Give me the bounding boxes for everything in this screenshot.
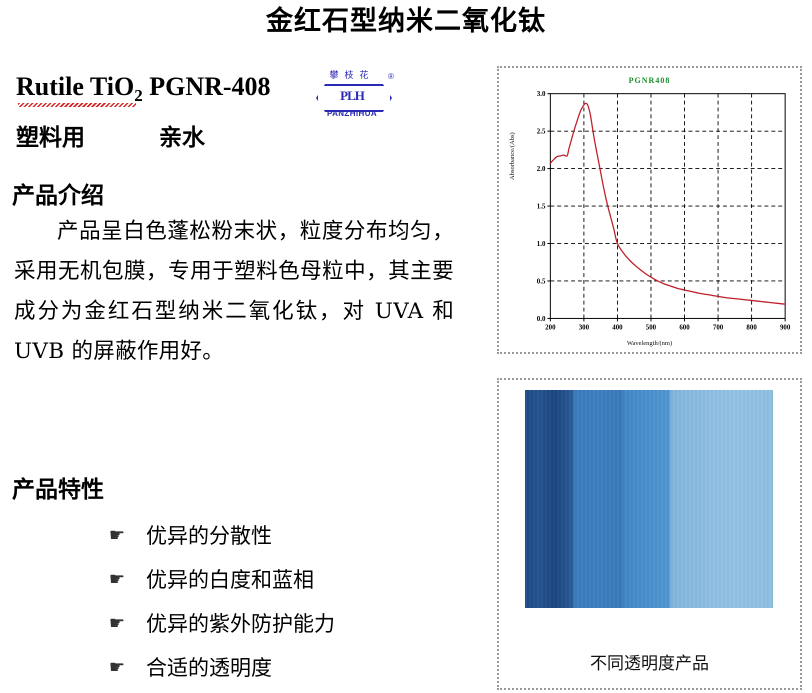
list-item: ☛ 优异的紫外防护能力: [100, 602, 460, 646]
list-item: ☛ 合适的透明度: [100, 646, 460, 690]
svg-text:600: 600: [679, 324, 690, 331]
feature-label: 合适的透明度: [146, 656, 272, 680]
feature-label: 优异的白度和蓝相: [146, 568, 314, 592]
logo-chinese-characters: 攀枝花: [312, 68, 392, 81]
svg-text:1.5: 1.5: [537, 204, 546, 211]
feature-label: 优异的紫外防护能力: [146, 612, 335, 636]
pointing-hand-icon: ☛: [104, 514, 130, 558]
product-code-main: Rutile TiO: [16, 72, 134, 101]
svg-text:2.5: 2.5: [537, 129, 546, 136]
photo-caption: 不同透明度产品: [499, 649, 800, 674]
svg-text:3.0: 3.0: [537, 91, 546, 98]
usage-secondary: 亲水: [159, 125, 205, 151]
slide-page: 金红石型纳米二氧化钛 Rutile TiO2 PGNR-408 攀枝花 ® PL…: [0, 0, 812, 693]
pointing-hand-icon: ☛: [104, 646, 130, 690]
feature-heading: 产品特性: [12, 470, 104, 504]
svg-text:400: 400: [612, 324, 623, 331]
left-content-column: Rutile TiO2 PGNR-408 攀枝花 ® PLH PANZHIHUA…: [0, 70, 480, 690]
svg-text:700: 700: [713, 324, 724, 331]
pointing-hand-icon: ☛: [104, 602, 130, 646]
feature-label: 优异的分散性: [146, 524, 272, 548]
chart-wrap: PGNR408 Absorbance/(Abs) Wavelength/(nm)…: [503, 72, 796, 348]
transparency-sample-photo: [525, 390, 773, 608]
product-code-row: Rutile TiO2 PGNR-408 攀枝花 ® PLH PANZHIHUA: [0, 70, 480, 114]
intro-heading: 产品介绍: [12, 176, 104, 210]
logo-monogram: PLH: [316, 85, 388, 107]
svg-text:0.0: 0.0: [537, 316, 546, 323]
svg-text:500: 500: [646, 324, 657, 331]
photo-streak-texture: [525, 390, 773, 608]
product-code: Rutile TiO2 PGNR-408: [16, 72, 271, 106]
svg-text:1.0: 1.0: [537, 241, 546, 248]
absorbance-chart-panel: PGNR408 Absorbance/(Abs) Wavelength/(nm)…: [497, 66, 802, 354]
spellcheck-underline: [18, 103, 136, 107]
svg-text:200: 200: [545, 324, 556, 331]
pointing-hand-icon: ☛: [104, 558, 130, 602]
list-item: ☛ 优异的分散性: [100, 514, 460, 558]
transparency-sample-panel: 不同透明度产品: [497, 378, 802, 690]
absorbance-spectrum-plot: 2003004005006007008009000.00.51.01.52.02…: [503, 72, 796, 348]
panzhihua-logo: 攀枝花 ® PLH PANZHIHUA: [308, 70, 404, 126]
svg-text:800: 800: [746, 324, 757, 331]
intro-paragraph: 产品呈白色蓬松粉末状，粒度分布均匀，采用无机包膜，专用于塑料色母粒中，其主要成分…: [14, 212, 454, 372]
feature-list: ☛ 优异的分散性 ☛ 优异的白度和蓝相 ☛ 优异的紫外防护能力 ☛ 合适的透明度: [100, 514, 460, 690]
usage-primary: 塑料用: [16, 125, 85, 151]
registered-trademark-icon: ®: [388, 72, 394, 81]
page-title: 金红石型纳米二氧化钛: [0, 4, 812, 40]
product-code-suffix: PGNR-408: [143, 72, 271, 101]
usage-row: 塑料用亲水: [16, 118, 205, 152]
list-item: ☛ 优异的白度和蓝相: [100, 558, 460, 602]
svg-text:2.0: 2.0: [537, 166, 546, 173]
svg-text:300: 300: [579, 324, 590, 331]
logo-brand-name: PANZHIHUA: [308, 109, 396, 118]
svg-text:900: 900: [780, 324, 791, 331]
svg-text:0.5: 0.5: [537, 278, 546, 285]
